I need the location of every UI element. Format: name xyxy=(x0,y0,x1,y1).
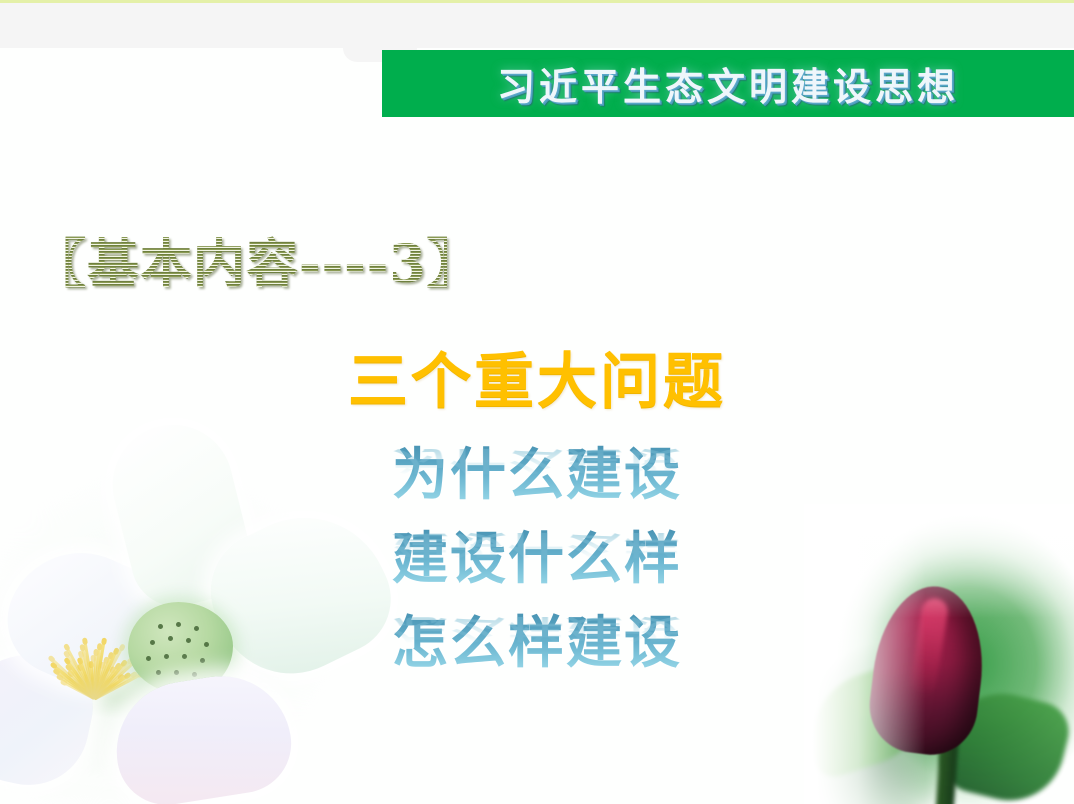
presentation-slide: 习近平生态文明建设思想 〖基本内容----3〗 〖基本内容----3〗 三个重大… xyxy=(0,0,1074,804)
message-item-text: 怎么样建设 xyxy=(0,598,1074,679)
message-item-text: 建设什么样 xyxy=(0,514,1074,595)
message-headline: 三个重大问题 xyxy=(0,352,1074,412)
title-banner: 习近平生态文明建设思想 xyxy=(382,50,1074,117)
message-item-text: 为什么建设 xyxy=(0,430,1074,511)
top-gray-band xyxy=(0,3,1074,48)
message-item: 为什么建设 为什么建设 xyxy=(0,430,1074,514)
banner-title-text: 习近平生态文明建设思想 xyxy=(497,56,959,111)
message-item: 建设什么样 建设什么样 xyxy=(0,514,1074,598)
message-item: 怎么样建设 怎么样建设 xyxy=(0,598,1074,682)
section-heading: 〖基本内容----3〗 xyxy=(34,222,480,297)
message-block: 三个重大问题 为什么建设 为什么建设 建设什么样 建设什么样 怎么样建设 怎么样… xyxy=(0,352,1074,682)
